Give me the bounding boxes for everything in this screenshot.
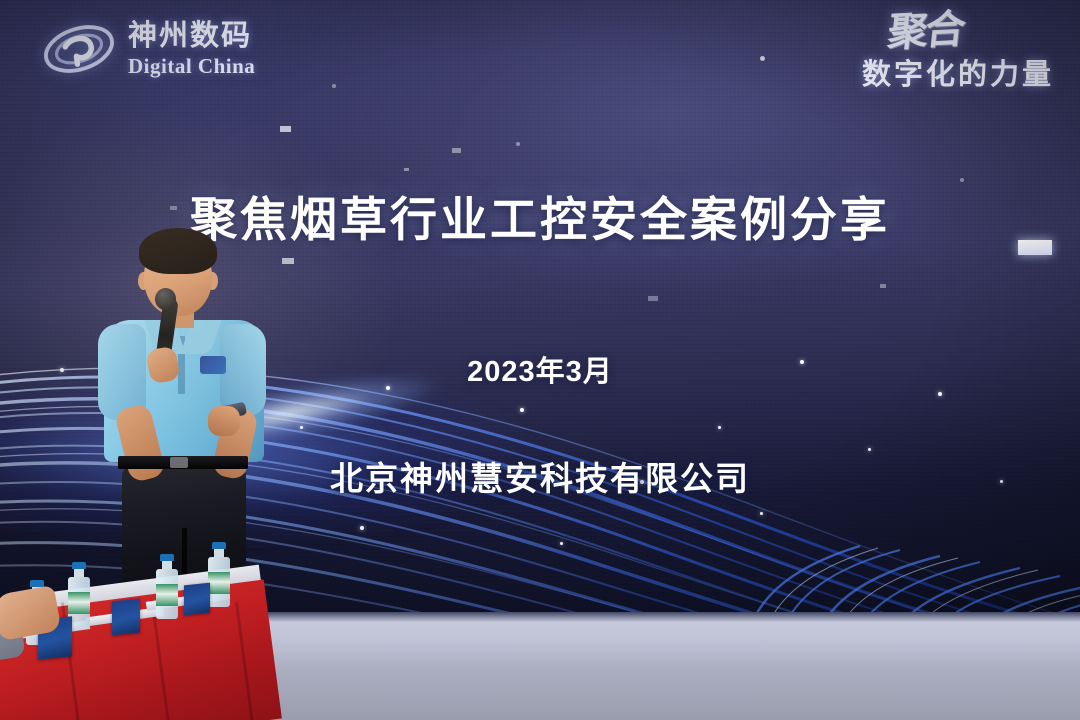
- water-bottle: [208, 542, 230, 607]
- shirt-chest-logo: [200, 356, 226, 374]
- belt-buckle: [170, 457, 188, 468]
- panel-table: [0, 560, 270, 720]
- conference-photo: 神州数码 Digital China 聚合 数字化的力量 聚焦烟草行业工控安全案…: [0, 0, 1080, 720]
- name-tent-card: [112, 599, 140, 636]
- presenter-hand-clicker: [208, 406, 240, 436]
- water-bottle: [156, 554, 178, 619]
- presenter-hair: [139, 228, 217, 274]
- name-tent-card: [184, 583, 210, 616]
